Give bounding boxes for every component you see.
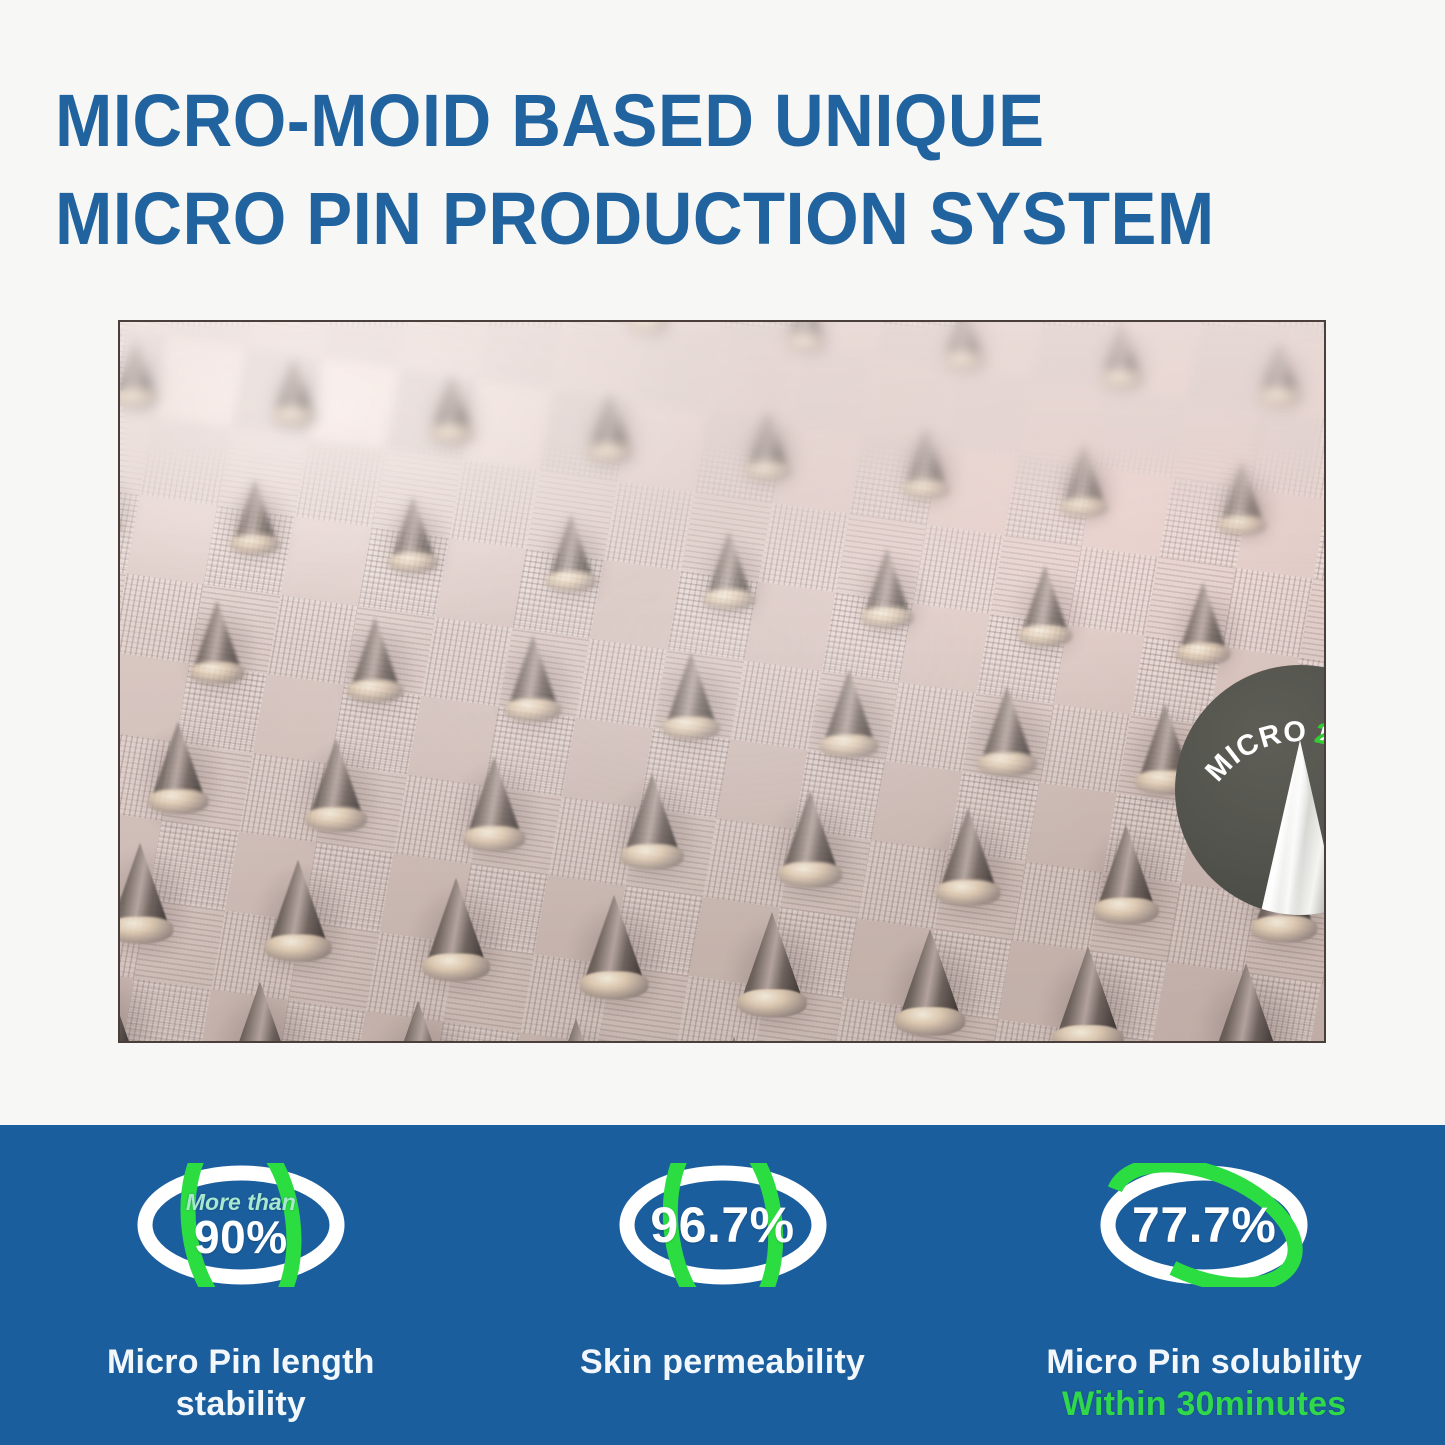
- ring-track: [627, 1173, 819, 1277]
- needle-base: [1217, 516, 1266, 536]
- needle-base: [306, 807, 368, 832]
- needle-base: [785, 334, 826, 351]
- stat-ring-2: 96.7%: [614, 1163, 832, 1287]
- needle-base: [1018, 625, 1072, 647]
- needle-base: [1052, 1025, 1123, 1041]
- needle-base: [1176, 643, 1231, 665]
- badge-text-white: MICRO PIN: [1199, 716, 1326, 788]
- stats-row: More than90%Micro Pin lengthstability96.…: [0, 1125, 1445, 1445]
- needle-base: [703, 589, 755, 610]
- needle-base: [943, 352, 985, 369]
- needle-shadow: [120, 467, 132, 545]
- needle-base: [264, 935, 331, 962]
- stat-sublabel: Within 30minutes: [963, 1383, 1445, 1425]
- needle-base: [463, 826, 526, 851]
- stats-panel: More than90%Micro Pin lengthstability96.…: [0, 1125, 1445, 1445]
- stat-ring-1: More than90%: [132, 1163, 350, 1287]
- badge-arc-text: MICRO PIN 200EA: [1175, 665, 1326, 915]
- needle-base: [580, 971, 649, 999]
- stat-ring-3: 77.7%: [1095, 1163, 1313, 1287]
- stat-label: Micro Pin solubility: [963, 1341, 1445, 1383]
- needle-base: [347, 680, 403, 703]
- title-line-2: MICRO PIN PRODUCTION SYSTEM: [55, 170, 1301, 268]
- needle-base: [621, 844, 684, 870]
- stat-card-3: 77.7%Micro Pin solubilityWithin 30minute…: [963, 1125, 1445, 1445]
- needle-base: [628, 322, 669, 333]
- page-title: MICRO-MOID BASED UNIQUE MICRO PIN PRODUC…: [55, 72, 1395, 268]
- stat-label-line-2: stability: [0, 1383, 482, 1425]
- needle-base: [120, 389, 157, 407]
- micro-pin-array-photo: MICRO PIN 200EA: [118, 320, 1326, 1043]
- stat-labels-1: Micro Pin lengthstability: [0, 1341, 482, 1425]
- ring-track: [145, 1173, 337, 1277]
- needle-base: [737, 989, 807, 1017]
- needle-base: [936, 880, 1001, 906]
- stat-ring-svg-1: [132, 1163, 350, 1287]
- needle-base: [587, 443, 633, 462]
- needle-base: [861, 607, 914, 629]
- needle-base: [778, 862, 842, 888]
- stat-ring-svg-2: [614, 1163, 832, 1287]
- needle-base: [977, 752, 1036, 776]
- needle-base: [820, 734, 879, 758]
- needle-base: [271, 407, 315, 425]
- stat-card-1: More than90%Micro Pin lengthstability: [0, 1125, 482, 1445]
- needle-base: [1251, 916, 1317, 943]
- needle-base: [1101, 370, 1144, 387]
- needle-base: [902, 480, 950, 499]
- micro-needle-grid: [120, 322, 1324, 1041]
- title-line-1: MICRO-MOID BASED UNIQUE: [55, 72, 1301, 170]
- needle-base: [429, 425, 474, 443]
- photo-inner: [120, 322, 1324, 1041]
- needle-cone: [703, 1036, 765, 1041]
- stat-label: Skin permeability: [482, 1341, 964, 1383]
- needle-base: [388, 553, 439, 574]
- micro-pin-count-badge: MICRO PIN 200EA: [1175, 665, 1326, 915]
- needle-base: [148, 789, 209, 814]
- needle-base: [189, 662, 244, 685]
- ring-progress-arc: [661, 1163, 784, 1287]
- needle-base: [1258, 388, 1302, 406]
- page-root: MICRO-MOID BASED UNIQUE MICRO PIN PRODUC…: [0, 0, 1445, 1445]
- stat-label: Micro Pin length: [0, 1341, 482, 1383]
- needle-base: [545, 571, 597, 592]
- needle-base: [230, 535, 280, 555]
- stat-labels-2: Skin permeability: [482, 1341, 964, 1383]
- ring-track: [1108, 1173, 1300, 1277]
- needle-base: [744, 461, 791, 480]
- stat-card-2: 96.7%Skin permeability: [482, 1125, 964, 1445]
- needle-base: [504, 698, 561, 721]
- ring-progress-arc: [1096, 1163, 1313, 1287]
- needle-base: [422, 953, 490, 981]
- needle-base: [895, 1007, 965, 1036]
- needle-base: [662, 716, 720, 740]
- stat-labels-3: Micro Pin solubilityWithin 30minutes: [963, 1341, 1445, 1425]
- needle-base: [1059, 498, 1107, 518]
- stat-ring-svg-3: [1095, 1163, 1313, 1287]
- ring-progress-arc: [177, 1163, 304, 1287]
- needle-base: [1094, 898, 1160, 925]
